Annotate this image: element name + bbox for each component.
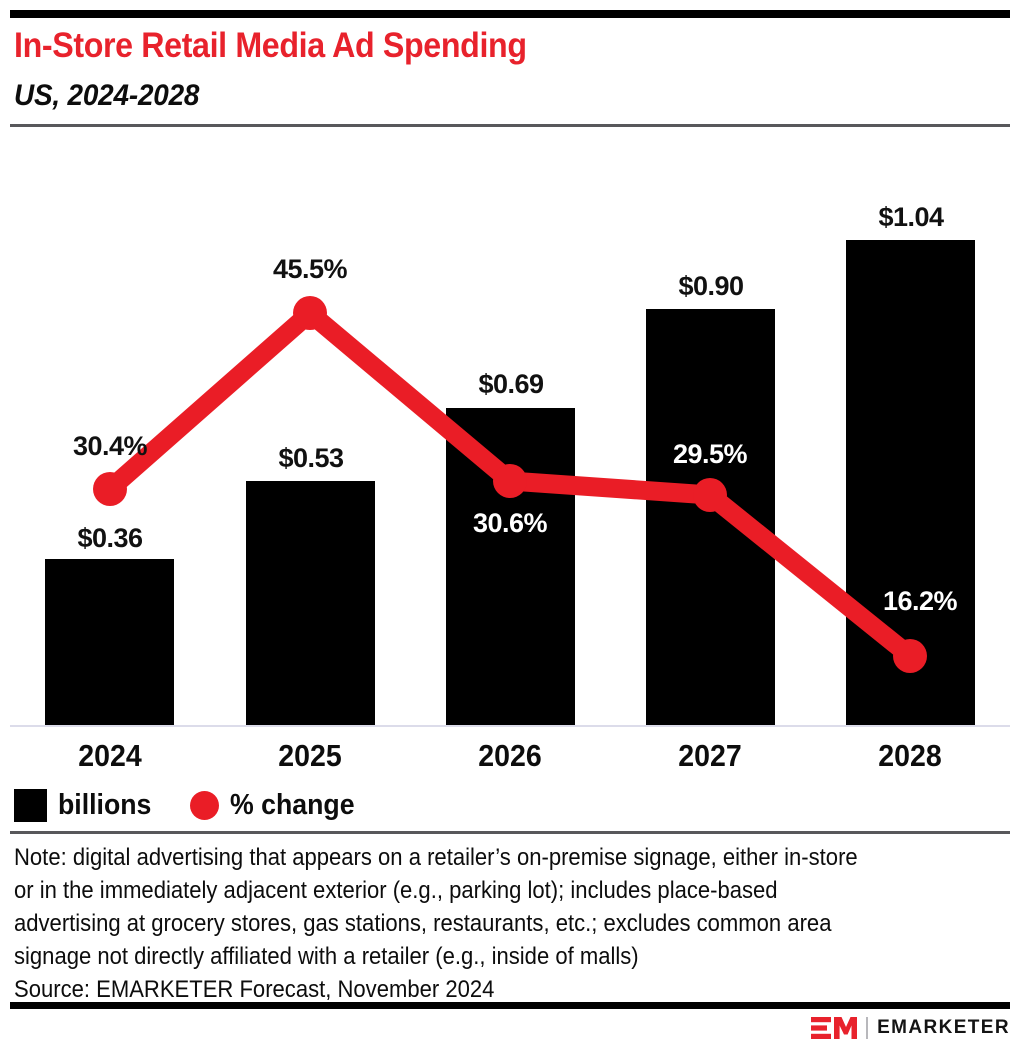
pct-label-2028: 16.2% <box>845 586 995 617</box>
notes-block: Note: digital advertising that appears o… <box>14 841 1004 1006</box>
percent-change-marker-2026 <box>493 464 527 498</box>
legend-square-icon <box>14 789 47 822</box>
top-black-rule <box>10 10 1010 18</box>
percent-change-marker-2024 <box>93 472 127 506</box>
page-subtitle: US, 2024-2028 <box>14 79 199 113</box>
chart-plot-area: $0.36 $0.53 $0.69 $0.90 $1.04 30.4% 45.5… <box>0 140 1020 730</box>
notes-divider-rule <box>10 831 1010 834</box>
logo-wordmark: EMARKETER <box>877 1017 1010 1039</box>
x-tick-2024: 2024 <box>41 738 179 774</box>
percent-change-marker-2028 <box>893 639 927 673</box>
header-divider-rule <box>10 124 1010 127</box>
logo-divider <box>866 1017 868 1039</box>
pct-label-2024: 30.4% <box>35 431 185 462</box>
pct-label-2027: 29.5% <box>635 439 785 470</box>
legend-item-billions: billions <box>14 789 160 822</box>
x-tick-2026: 2026 <box>441 738 579 774</box>
legend-item-percent-change: % change <box>190 789 365 822</box>
note-line-3: advertising at grocery stores, gas stati… <box>14 907 905 940</box>
pct-label-2026: 30.6% <box>435 508 585 539</box>
x-tick-2027: 2027 <box>641 738 779 774</box>
emarketer-logo: EMARKETER <box>811 1016 1010 1040</box>
bottom-black-rule <box>10 1002 1010 1009</box>
legend-label-billions: billions <box>58 789 151 822</box>
note-line-2: or in the immediately adjacent exterior … <box>14 874 905 907</box>
x-tick-2025: 2025 <box>241 738 379 774</box>
legend-circle-icon <box>190 791 219 820</box>
page-title: In-Store Retail Media Ad Spending <box>14 26 527 66</box>
chart-legend: billions % change <box>14 789 365 822</box>
percent-change-marker-2025 <box>293 296 327 330</box>
x-tick-2028: 2028 <box>841 738 979 774</box>
note-line-1: Note: digital advertising that appears o… <box>14 841 905 874</box>
legend-label-percent-change: % change <box>230 789 355 822</box>
em-monogram-icon <box>811 1016 857 1040</box>
percent-change-marker-2027 <box>693 478 727 512</box>
pct-label-2025: 45.5% <box>235 254 385 285</box>
chart-page: In-Store Retail Media Ad Spending US, 20… <box>0 0 1020 1048</box>
note-line-4: signage not directly affiliated with a r… <box>14 940 905 973</box>
